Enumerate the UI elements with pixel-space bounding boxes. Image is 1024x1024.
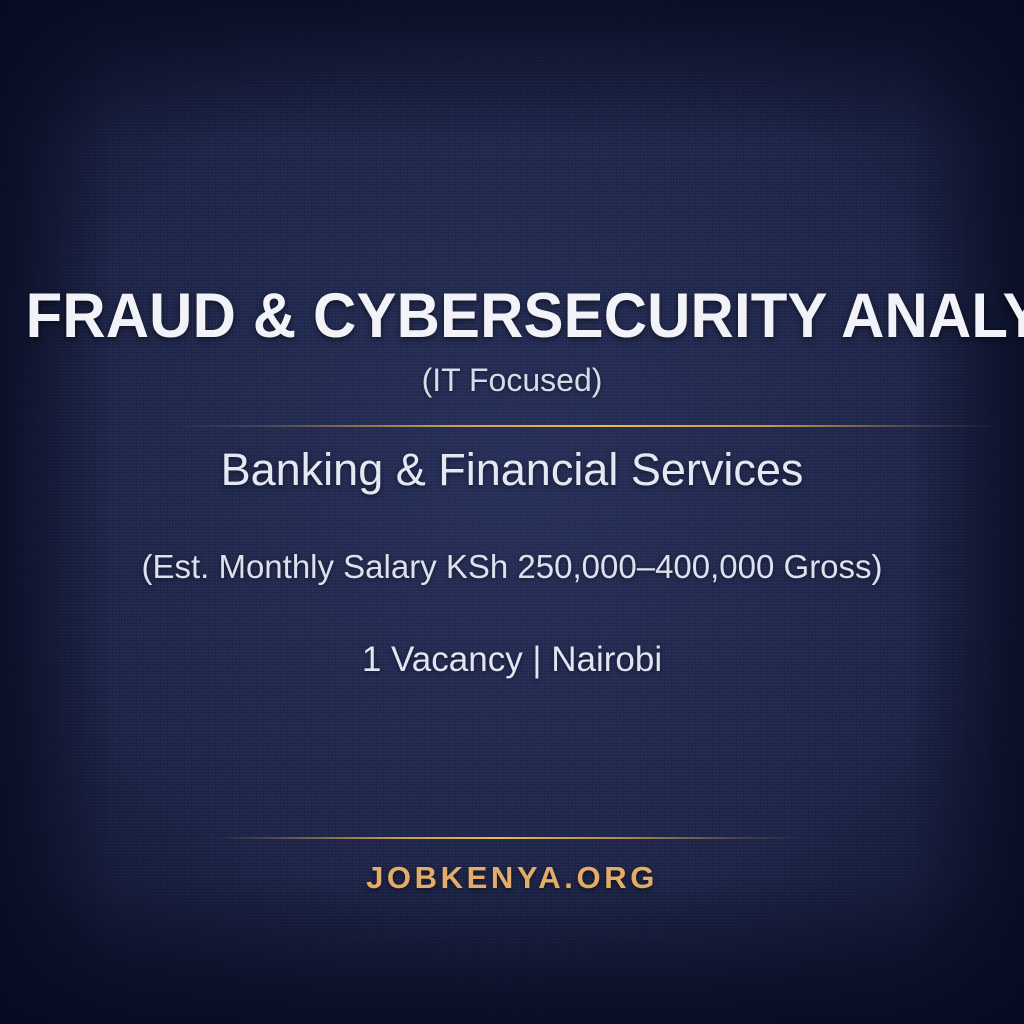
job-title: FRAUD & CYBERSECURITY ANALYST bbox=[26, 283, 999, 349]
divider-top bbox=[172, 425, 1002, 427]
job-title-qualifier: (IT Focused) bbox=[0, 362, 1024, 399]
salary-range: (Est. Monthly Salary KSh 250,000–400,000… bbox=[0, 548, 1024, 586]
brand-website: JOBKENYA.ORG bbox=[0, 860, 1024, 896]
job-poster: FRAUD & CYBERSECURITY ANALYST (IT Focuse… bbox=[0, 0, 1024, 1024]
vacancy-location: 1 Vacancy | Nairobi bbox=[0, 640, 1024, 680]
industry-sector: Banking & Financial Services bbox=[0, 444, 1024, 496]
poster-content: FRAUD & CYBERSECURITY ANALYST (IT Focuse… bbox=[0, 0, 1024, 1024]
divider-bottom bbox=[214, 837, 804, 839]
